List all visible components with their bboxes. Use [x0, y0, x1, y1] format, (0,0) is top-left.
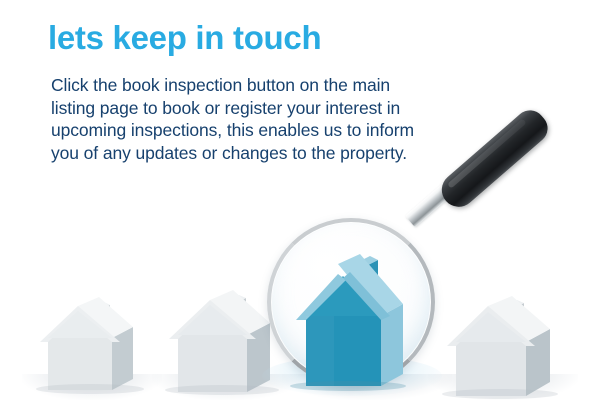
house-blue-highlighted [286, 258, 426, 392]
body-line-1: Click the book inspection button on the … [51, 74, 451, 97]
promo-banner: lets keep in touch Click the book inspec… [0, 0, 600, 400]
house-grey-1 [34, 294, 154, 390]
body-line-2: listing page to book or register your in… [51, 97, 451, 120]
page-title: lets keep in touch [48, 18, 321, 58]
magnifier-handle [435, 104, 554, 214]
